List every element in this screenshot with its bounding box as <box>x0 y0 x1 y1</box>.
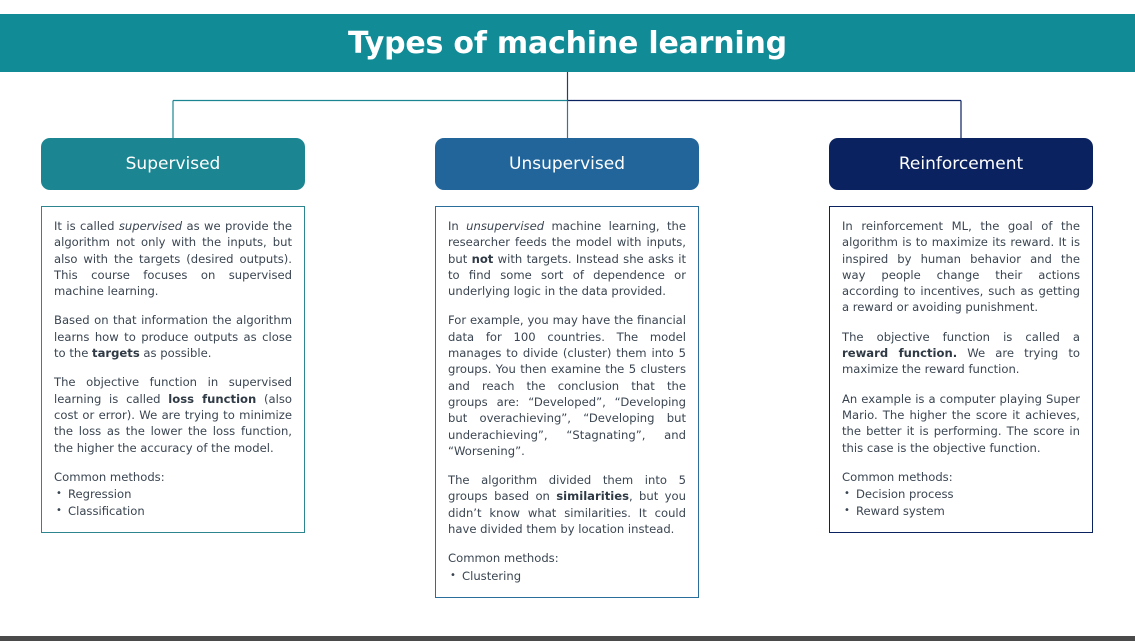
bottom-bar <box>0 636 1135 641</box>
category-header-label: Supervised <box>126 154 221 174</box>
category-header-unsupervised[interactable]: Unsupervised <box>435 138 699 190</box>
paragraph: For example, you may have the financial … <box>448 312 686 459</box>
methods-list-supervised: RegressionClassification <box>54 486 292 520</box>
header-bar: Types of machine learning <box>0 14 1135 72</box>
paragraph: In reinforcement ML, the goal of the alg… <box>842 218 1080 316</box>
description-box-unsupervised: In unsupervised machine learning, the re… <box>435 206 699 598</box>
paragraph: Based on that information the algorithm … <box>54 312 292 361</box>
category-header-reinforcement[interactable]: Reinforcement <box>829 138 1093 190</box>
method-item: Reward system <box>856 503 1080 520</box>
method-item: Regression <box>68 486 292 503</box>
description-box-reinforcement: In reinforcement ML, the goal of the alg… <box>829 206 1093 533</box>
methods-list-unsupervised: Clustering <box>448 568 686 585</box>
category-header-label: Reinforcement <box>899 154 1023 174</box>
column-reinforcement: Reinforcement In reinforcement ML, the g… <box>829 138 1093 533</box>
paragraph: The objective function in supervised lea… <box>54 374 292 455</box>
category-header-supervised[interactable]: Supervised <box>41 138 305 190</box>
paragraph: An example is a computer playing Super M… <box>842 391 1080 456</box>
methods-label: Common methods: <box>54 469 292 485</box>
category-header-label: Unsupervised <box>509 154 625 174</box>
page-title: Types of machine learning <box>348 26 787 61</box>
paragraph: It is called supervised as we provide th… <box>54 218 292 299</box>
column-supervised: Supervised It is called supervised as we… <box>41 138 305 533</box>
method-item: Decision process <box>856 486 1080 503</box>
paragraph: The algorithm divided them into 5 groups… <box>448 472 686 537</box>
description-box-supervised: It is called supervised as we provide th… <box>41 206 305 533</box>
method-item: Classification <box>68 503 292 520</box>
method-item: Clustering <box>462 568 686 585</box>
methods-label: Common methods: <box>448 550 686 566</box>
methods-label: Common methods: <box>842 469 1080 485</box>
column-unsupervised: Unsupervised In unsupervised machine lea… <box>435 138 699 598</box>
paragraph: The objective function is called a rewar… <box>842 329 1080 378</box>
paragraph: In unsupervised machine learning, the re… <box>448 218 686 299</box>
methods-list-reinforcement: Decision processReward system <box>842 486 1080 520</box>
